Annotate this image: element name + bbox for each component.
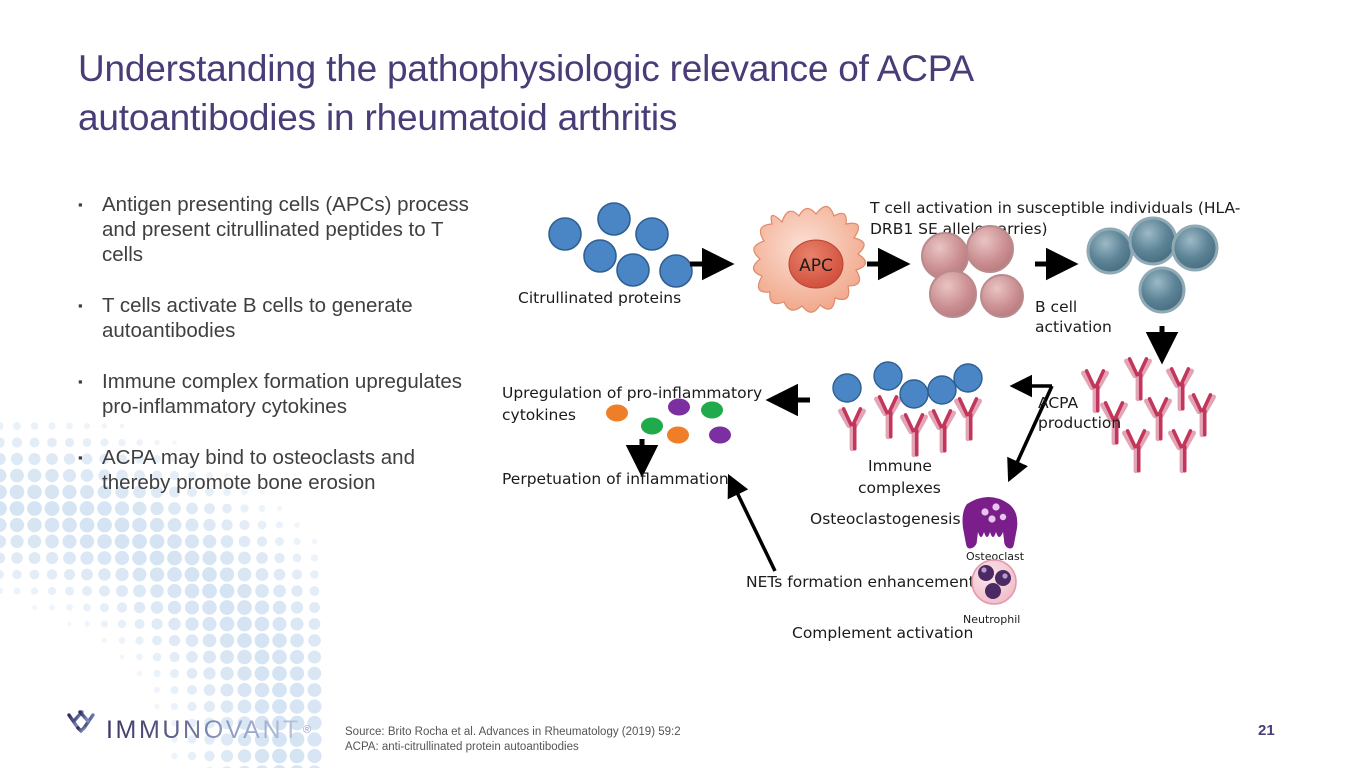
source-line-1: Source: Brito Rocha et al. Advances in R… (345, 725, 681, 740)
arrow-bottom-to-perpetuation (730, 478, 775, 571)
label-tcell-activation-line1: T cell activation in susceptible individ… (869, 199, 1240, 217)
antigen-icon (900, 380, 928, 408)
antibody-icon (1170, 431, 1193, 471)
antigen-icon (874, 362, 902, 390)
antigen-icon (928, 376, 956, 404)
list-item: ▪ Immune complex formation upregulates p… (72, 369, 472, 419)
source-line-2: ACPA: anti-citrullinated protein autoant… (345, 740, 681, 755)
bullet-marker-icon: ▪ (72, 293, 102, 318)
label-nets-formation: NETs formation enhancement (746, 573, 975, 591)
t-cells-group (922, 226, 1023, 317)
logo-wordmark: IMMUNOVANT (106, 718, 301, 743)
label-upregulation-line1: Upregulation of pro-inflammatory (502, 384, 762, 402)
immune-complexes-group (833, 362, 982, 455)
pathophysiology-diagram: Citrullinated proteins APC T cell activa… (490, 186, 1250, 656)
antibody-icon (902, 415, 925, 455)
citrullinated-proteins-group (549, 203, 692, 287)
antigen-icon (833, 374, 861, 402)
osteoclast-icon (963, 497, 1018, 549)
label-acpa-production-line2: production (1038, 414, 1121, 432)
cytokines-group (606, 399, 731, 444)
list-item: ▪ T cells activate B cells to generate a… (72, 293, 472, 343)
source-citation: Source: Brito Rocha et al. Advances in R… (345, 725, 681, 755)
label-upregulation-line2: cytokines (502, 406, 576, 424)
label-immune-complexes-line2: complexes (858, 479, 941, 497)
antibody-icon (930, 411, 953, 451)
page-number: 21 (1258, 722, 1275, 739)
antibody-icon (1168, 369, 1191, 409)
bullet-marker-icon: ▪ (72, 445, 102, 470)
label-bcell-activation-line1: B cell (1035, 298, 1077, 316)
bullet-marker-icon: ▪ (72, 192, 102, 217)
list-item: ▪ Antigen presenting cells (APCs) proces… (72, 192, 472, 267)
label-bcell-activation-line2: activation (1035, 318, 1112, 336)
list-item-text: Antigen presenting cells (APCs) process … (102, 192, 472, 267)
list-item-text: ACPA may bind to osteoclasts and thereby… (102, 445, 472, 495)
label-osteoclastogenesis: Osteoclastogenesis (810, 510, 961, 528)
b-cells-group (1088, 218, 1217, 312)
bullet-list: ▪ Antigen presenting cells (APCs) proces… (72, 192, 472, 521)
label-complement-activation: Complement activation (792, 624, 973, 642)
antigen-icon (954, 364, 982, 392)
registered-mark-icon: ® (303, 724, 311, 736)
bullet-marker-icon: ▪ (72, 369, 102, 394)
list-item: ▪ ACPA may bind to osteoclasts and there… (72, 445, 472, 495)
label-apc: APC (799, 256, 833, 276)
label-perpetuation: Perpetuation of inflammation (502, 470, 729, 488)
antibody-icon (840, 409, 863, 449)
apc-cell: APC (753, 206, 865, 312)
label-immune-complexes-line1: Immune (868, 457, 932, 475)
label-tcell-activation-line2: DRB1 SE allele carries) (870, 220, 1048, 238)
page-title: Understanding the pathophysiologic relev… (78, 44, 1158, 142)
antibody-icon (956, 399, 979, 439)
immunovant-logo: IMMUNOVANT ® (62, 708, 311, 752)
antibody-icon (1190, 395, 1213, 435)
list-item-text: Immune complex formation upregulates pro… (102, 369, 472, 419)
list-item-text: T cells activate B cells to generate aut… (102, 293, 472, 343)
antibody-icon (1124, 431, 1147, 471)
label-citrullinated-proteins: Citrullinated proteins (518, 289, 681, 307)
antibody-icon (876, 397, 899, 437)
neutrophil-icon (972, 560, 1016, 604)
antibody-logo-icon (62, 710, 100, 750)
label-acpa-production-line1: ACPA (1038, 394, 1079, 412)
antibody-icon (1126, 359, 1149, 399)
